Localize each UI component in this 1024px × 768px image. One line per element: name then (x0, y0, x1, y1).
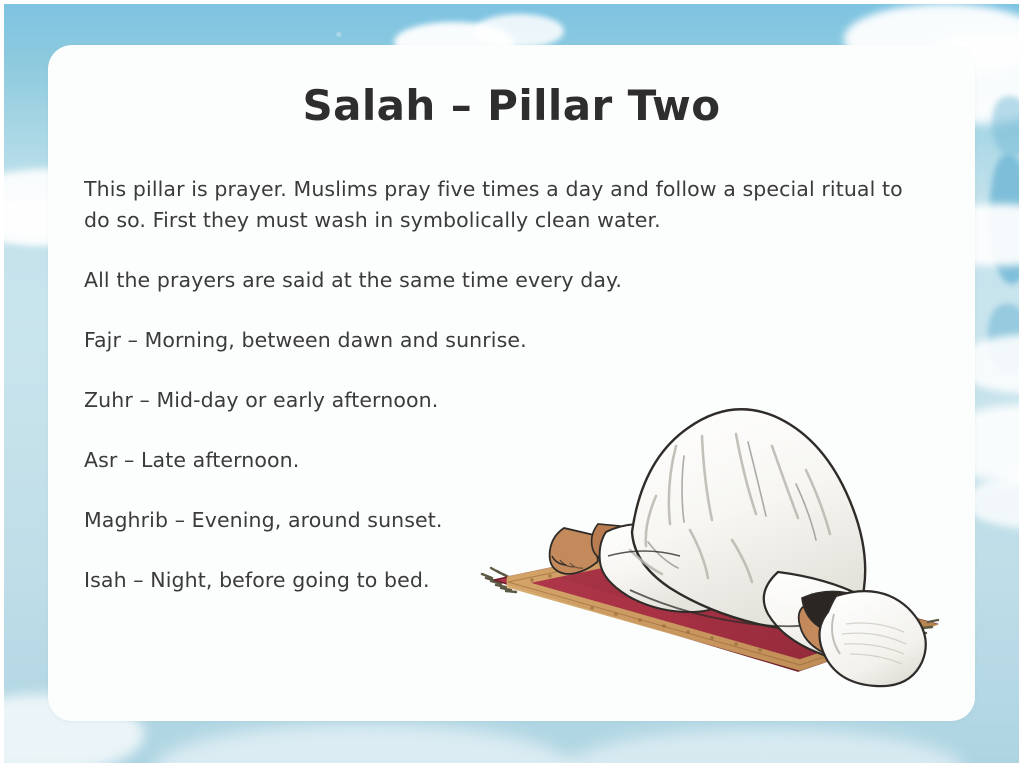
paragraph-timing: All the prayers are said at the same tim… (84, 265, 784, 296)
hair (802, 591, 891, 654)
ear (824, 625, 843, 644)
prayer-zuhr: Zuhr – Mid-day or early afternoon. (84, 385, 784, 416)
prayer-maghrib: Maghrib – Evening, around sunset. (84, 505, 784, 536)
paragraph-intro: This pillar is prayer. Muslims pray five… (84, 174, 904, 236)
cloud-shape (474, 14, 564, 48)
body-text-block: This pillar is prayer. Muslims pray five… (84, 174, 944, 596)
prayer-isah: Isah – Night, before going to bed. (84, 565, 784, 596)
face (799, 604, 871, 659)
prayer-asr: Asr – Late afternoon. (84, 445, 784, 476)
sleeve-cuff (808, 618, 844, 646)
slide: Salah – Pillar Two This pillar is prayer… (0, 0, 1024, 768)
hand (824, 632, 914, 674)
kufi-cap (819, 591, 925, 686)
page-title: Salah – Pillar Two (48, 81, 975, 130)
prayer-fajr: Fajr – Morning, between dawn and sunrise… (84, 325, 784, 356)
content-card: Salah – Pillar Two This pillar is prayer… (48, 45, 975, 721)
